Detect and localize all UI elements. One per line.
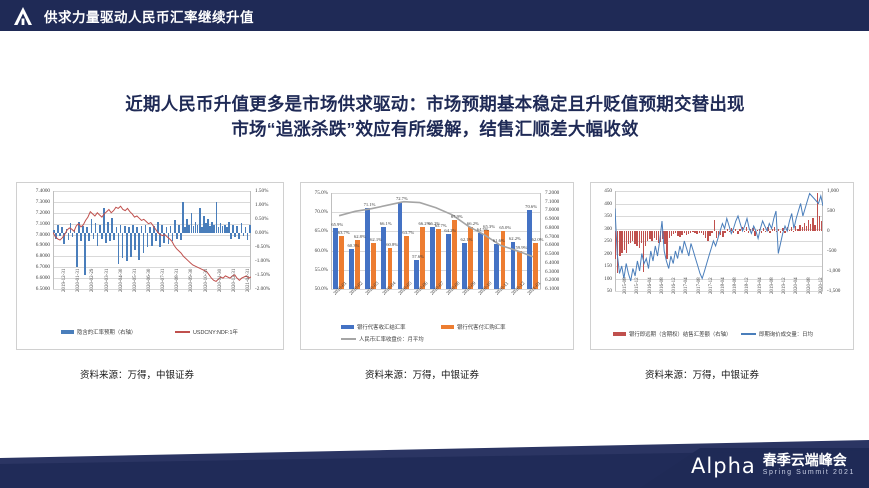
chart1-xtick: 2020-01-31	[76, 269, 81, 292]
chart3-source: 资料来源：万得，中银证券	[645, 367, 759, 381]
chart2-ytick-right: 6.7000	[545, 234, 559, 240]
chart2-data-label: 62.0%	[532, 237, 544, 242]
chart3-xtick: 2019-08	[770, 277, 775, 294]
chart3-xtick: 2016-12	[672, 277, 677, 294]
legend-swatch-icon	[341, 338, 356, 340]
chart3-xtick: 2020-04	[794, 277, 799, 294]
chart1-ytick-right: 0.00%	[255, 230, 268, 236]
chart2-source: 资料来源：万得，中银证券	[365, 367, 479, 381]
chart1-ytick-left: 6.9000	[17, 242, 50, 248]
chart2-data-label: 65.0%	[499, 225, 511, 230]
chart2-data-label: 60.3%	[347, 243, 359, 248]
brand-english-text: Spring Summit 2021	[763, 468, 855, 477]
chart3-xtick: 2017-08	[697, 277, 702, 294]
page-title-line-2: 市场“追涨杀跌”效应有所缓解，结售汇顺差大幅收敛	[40, 117, 830, 142]
chart3-ytick-right: -500	[827, 248, 837, 254]
chart3-ytick-left: 350	[591, 213, 612, 219]
chart1-xtick: 2020-02-29	[90, 269, 95, 292]
chart1-ytick-left: 6.7000	[17, 264, 50, 270]
chart1-xtick: 2020-11-30	[218, 269, 223, 292]
chart2-data-label: 63.7%	[338, 230, 350, 235]
legend-swatch-icon	[613, 332, 626, 336]
chart1-xtick: 2020-10-31	[204, 269, 209, 292]
chart3-ytick-left: 400	[591, 201, 612, 207]
chart2-legend-label-2: 银行代客付汇购汇率	[457, 323, 506, 331]
chart3-legend-item-1: 银行即远期（含期权）结售汇差额（右轴）	[613, 330, 731, 338]
chart3-ytick-left: 200	[591, 251, 612, 257]
chart2-legend-item-3: 人民币汇率收盘价：月平均	[341, 335, 424, 343]
chart1-xtick: 2021-01-31	[246, 269, 251, 292]
chart2-ytick-right: 6.3000	[545, 269, 559, 275]
chart1-ytick-left: 7.4000	[17, 188, 50, 194]
chart2-ytick-left: 75.0%	[301, 190, 328, 196]
chart2-ytick-left: 55.0%	[301, 267, 328, 273]
chart3-xtick: 2019-12	[782, 277, 787, 294]
chart1-xtick: 2020-03-31	[105, 269, 110, 292]
chart2-data-label: 59.9%	[515, 245, 527, 250]
chart2-data-label: 66.1%	[380, 221, 392, 226]
chart2-data-label: 70.6%	[525, 204, 537, 209]
page-title: 近期人民币升值更多是市场供求驱动：市场预期基本稳定且升贬值预期交替出现 市场“追…	[40, 92, 830, 142]
legend-swatch-icon	[175, 331, 190, 333]
chart2-data-label: 64.2%	[444, 228, 456, 233]
chart1-legend-item-2: USDCNY:NDF:1年	[175, 328, 238, 336]
chart2-data-label: 65.7%	[435, 223, 447, 228]
chart1-ytick-left: 7.2000	[17, 210, 50, 216]
chart3-plot-area	[615, 191, 823, 291]
chart-panel-2: 银行代客收汇结汇率 银行代客付汇购汇率 人民币汇率收盘价：月平均 75.0%70…	[300, 182, 574, 350]
chart3-ytick-left: 250	[591, 238, 612, 244]
chart2-ytick-left: 60.0%	[301, 248, 328, 254]
chart3-xtick: 2015-12	[635, 277, 640, 294]
chart3-ytick-right: 0	[827, 228, 830, 234]
chart-panel-3: 银行即远期（含期权）结售汇差额（右轴） 即期询价成交量：日均 450400350…	[590, 182, 854, 350]
chart2-data-label: 71.1%	[364, 202, 376, 207]
chart3-ytick-left: 50	[591, 288, 612, 294]
chart3-legend-item-2: 即期询价成交量：日均	[741, 330, 813, 338]
chart3-xtick: 2019-04	[758, 277, 763, 294]
chart2-ytick-right: 6.1000	[545, 286, 559, 292]
chart2-data-label: 66.2%	[467, 221, 479, 226]
chart1-source: 资料来源：万得，中银证券	[80, 367, 194, 381]
chart3-ytick-left: 450	[591, 188, 612, 194]
legend-swatch-icon	[741, 333, 756, 335]
chart2-legend-label-1: 银行代客收汇结汇率	[357, 323, 406, 331]
chart3-xtick: 2018-12	[745, 277, 750, 294]
chart2-ytick-right: 6.6000	[545, 242, 559, 248]
chart1-ytick-right: -2.00%	[255, 286, 270, 292]
chart3-ytick-right: 1,000	[827, 188, 839, 194]
chart3-ytick-left: 300	[591, 226, 612, 232]
chart1-ytick-left: 6.6000	[17, 275, 50, 281]
triangle-a-logo-icon	[12, 6, 34, 26]
chart2-data-label: 65.3%	[483, 224, 495, 229]
chart3-legend-label-2: 即期询价成交量：日均	[759, 330, 813, 338]
chart1-xtick: 2020-04-30	[119, 269, 124, 292]
chart1-ytick-left: 7.0000	[17, 232, 50, 238]
chart3-xtick: 2018-04	[721, 277, 726, 294]
chart-panel-1: 隐含的汇率预期（右轴） USDCNY:NDF:1年 7.40007.30007.…	[16, 182, 284, 350]
slide-header: 供求力量驱动人民币汇率继续升值	[0, 0, 869, 31]
chart3-ytick-right: -1,500	[827, 288, 840, 294]
chart1-ytick-left: 7.3000	[17, 199, 50, 205]
chart1-legend-label-2: USDCNY:NDF:1年	[193, 328, 238, 336]
chart3-ytick-right: -1,000	[827, 268, 840, 274]
chart2-ytick-left: 70.0%	[301, 209, 328, 215]
chart2-data-label: 67.9%	[451, 214, 463, 219]
chart1-ytick-right: -1.00%	[255, 258, 270, 264]
chart3-xtick: 2016-04	[648, 277, 653, 294]
chart1-xtick: 2020-05-31	[133, 269, 138, 292]
chart1-legend-item-1: 隐含的汇率预期（右轴）	[61, 328, 136, 336]
chart2-legend-label-3: 人民币汇率收盘价：月平均	[359, 335, 424, 343]
chart2-ytick-right: 6.9000	[545, 216, 559, 222]
gridline	[615, 291, 823, 292]
chart2-data-label: 62.8%	[354, 234, 366, 239]
chart3-xtick: 2017-12	[709, 277, 714, 294]
chart1-ytick-right: 1.00%	[255, 202, 268, 208]
chart2-data-label: 63.7%	[402, 230, 414, 235]
chart1-legend-label-1: 隐含的汇率预期（右轴）	[77, 328, 136, 336]
chart2-data-label: 62.1%	[370, 237, 382, 242]
chart2-data-label: 60.8%	[386, 242, 398, 247]
chart1-ytick-left: 7.1000	[17, 221, 50, 227]
chart2-data-label: 72.7%	[396, 196, 408, 201]
legend-swatch-icon	[61, 330, 74, 334]
legend-swatch-icon	[441, 325, 454, 329]
chart1-xtick: 2020-08-31	[175, 269, 180, 292]
brand-lockup: Alpha 春季云端峰会 Spring Summit 2021	[691, 452, 855, 477]
chart1-xtick: 2020-07-31	[161, 269, 166, 292]
chart2-data-label: 62.1%	[461, 237, 473, 242]
chart3-legend-label-1: 银行即远期（含期权）结售汇差额（右轴）	[629, 330, 731, 338]
chart2-data-label: 65.9%	[331, 222, 343, 227]
chart2-ytick-right: 6.2000	[545, 277, 559, 283]
chart1-xtick: 2020-06-30	[147, 269, 152, 292]
chart3-xtick: 2020-08	[807, 277, 812, 294]
chart1-ytick-left: 6.8000	[17, 253, 50, 259]
header-title: 供求力量驱动人民币汇率继续升值	[44, 6, 254, 26]
legend-swatch-icon	[341, 325, 354, 329]
chart2-ytick-right: 6.5000	[545, 251, 559, 257]
chart1-ytick-right: 1.50%	[255, 188, 268, 194]
brand-alpha-text: Alpha	[691, 456, 756, 477]
chart1-xtick: 2020-09-30	[189, 269, 194, 292]
chart3-ytick-left: 150	[591, 263, 612, 269]
chart1-ytick-right: -1.50%	[255, 272, 270, 278]
chart3-xtick: 2017-04	[684, 277, 689, 294]
page-title-line-1: 近期人民币升值更多是市场供求驱动：市场预期基本稳定且升贬值预期交替出现	[40, 92, 830, 117]
chart3-xtick: 2020-12	[819, 277, 824, 294]
chart1-xtick: 2019-12-31	[62, 269, 67, 292]
chart3-ytick-left: 100	[591, 276, 612, 282]
chart2-ytick-right: 7.2000	[545, 190, 559, 196]
chart2-ytick-right: 7.0000	[545, 207, 559, 213]
chart3-xtick: 2015-08	[623, 277, 628, 294]
chart1-ytick-right: -0.50%	[255, 244, 270, 250]
chart1-ytick-right: 0.50%	[255, 216, 268, 222]
chart2-legend-item-2: 银行代客付汇购汇率	[441, 323, 506, 331]
chart2-ytick-right: 6.4000	[545, 260, 559, 266]
chart3-ytick-right: 500	[827, 208, 835, 214]
chart2-ytick-left: 50.0%	[301, 286, 328, 292]
chart2-ytick-right: 6.8000	[545, 225, 559, 231]
chart1-xtick: 2020-12-31	[232, 269, 237, 292]
chart3-volume-line	[615, 191, 823, 291]
chart3-xtick: 2018-08	[733, 277, 738, 294]
chart2-ytick-left: 65.0%	[301, 228, 328, 234]
chart2-data-label: 57.6%	[412, 254, 424, 259]
chart2-data-label: 61.6%	[493, 238, 505, 243]
chart2-ytick-right: 7.1000	[545, 199, 559, 205]
brand-chinese-text: 春季云端峰会	[763, 452, 847, 468]
chart1-ytick-left: 6.5000	[17, 286, 50, 292]
chart2-legend-item-1: 银行代客收汇结汇率	[341, 323, 406, 331]
header-divider	[0, 31, 869, 35]
chart2-data-label: 62.2%	[509, 236, 521, 241]
chart3-xtick: 2016-08	[660, 277, 665, 294]
